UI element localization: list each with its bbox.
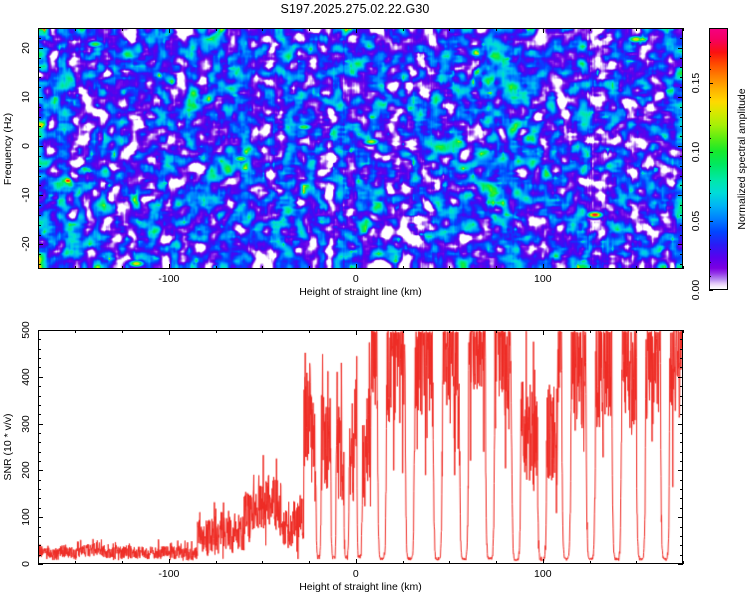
x-tick-minor [590,330,591,333]
x-tick-label: -100 [158,568,179,580]
y-tick-label: 100 [20,508,32,526]
y-tick-minor [38,205,41,206]
y-tick [678,48,683,49]
colorbar-tick-minor [709,111,711,112]
y-tick-minor [38,67,41,68]
y-tick [678,146,683,147]
y-tick-label: -10 [20,188,32,203]
spectrogram-image [39,29,682,268]
y-tick-minor [680,205,683,206]
y-tick-minor [680,225,683,226]
x-tick-minor [496,266,497,269]
y-tick-minor [680,185,683,186]
y-tick-label: 10 [20,91,32,103]
x-tick [169,28,170,33]
y-tick [38,424,43,425]
y-tick [678,564,683,565]
x-tick-minor [636,330,637,333]
y-tick [678,330,683,331]
x-tick-label: 100 [534,273,552,285]
y-tick-minor [680,349,683,350]
y-tick-minor [38,225,41,226]
x-tick-minor [496,28,497,31]
y-tick-minor [680,117,683,118]
colorbar-label: Normalized spectral amplitude [736,88,748,229]
x-tick-minor [403,330,404,333]
y-tick-minor [680,156,683,157]
y-tick [678,377,683,378]
colorbar-tick-minor [709,262,711,263]
y-tick-minor [680,489,683,490]
x-tick [356,330,357,335]
y-tick-minor [680,58,683,59]
y-tick-minor [38,405,41,406]
x-tick-minor [262,28,263,31]
y-tick-label: 0 [20,143,32,149]
y-tick-minor [680,498,683,499]
x-tick [169,330,170,335]
y-tick-label: 0 [20,561,32,567]
y-tick-minor [680,508,683,509]
y-tick-minor [38,461,41,462]
y-tick-minor [38,166,41,167]
y-tick-minor [38,508,41,509]
x-tick-minor [496,561,497,564]
y-tick-minor [38,126,41,127]
x-tick-minor [683,561,684,564]
colorbar-tick-minor [709,193,711,194]
y-tick [38,97,43,98]
colorbar-tick [709,83,713,84]
x-tick-minor [309,561,310,564]
y-tick-minor [680,555,683,556]
x-tick-label: -100 [158,273,179,285]
y-tick-minor [38,87,41,88]
y-tick-minor [38,176,41,177]
colorbar-tick [709,152,713,153]
x-tick-minor [309,330,310,333]
y-tick-minor [38,136,41,137]
x-tick-minor [636,561,637,564]
y-tick-minor [680,215,683,216]
y-tick-minor [38,117,41,118]
y-tick-minor [38,396,41,397]
x-tick-minor [75,266,76,269]
y-tick-minor [38,433,41,434]
y-tick-label: 500 [20,321,32,339]
y-axis-title: Frequency (Hz) [2,112,14,184]
y-tick [38,195,43,196]
x-tick [169,264,170,269]
y-tick-label: 300 [20,415,32,433]
x-tick-minor [403,266,404,269]
x-tick-minor [683,28,684,31]
x-tick-minor [262,330,263,333]
colorbar-tick-minor [709,276,711,277]
colorbar-tick-minor [709,207,711,208]
y-tick-minor [680,28,683,29]
y-tick-minor [680,452,683,453]
y-tick-minor [680,367,683,368]
y-tick [38,146,43,147]
y-tick-minor [680,107,683,108]
x-tick [169,559,170,564]
x-tick [543,28,544,33]
y-tick [38,48,43,49]
x-tick [543,330,544,335]
y-tick-minor [38,358,41,359]
y-tick-minor [38,339,41,340]
y-tick-label: 20 [20,42,32,54]
x-tick-minor [75,561,76,564]
colorbar-tick-minor [709,180,711,181]
y-tick-minor [38,235,41,236]
x-tick-minor [216,28,217,31]
y-tick [38,244,43,245]
y-tick [678,424,683,425]
y-tick-label: 400 [20,368,32,386]
colorbar-tick-label: 0.10 [690,142,702,162]
x-tick-minor [262,561,263,564]
y-tick-minor [680,254,683,255]
colorbar-tick-minor [709,42,711,43]
x-tick-minor [403,28,404,31]
colorbar-tick-minor [709,97,711,98]
y-tick-minor [38,58,41,59]
colorbar-tick-minor [709,56,711,57]
y-tick [678,470,683,471]
colorbar-tick-label: 0.05 [690,211,702,231]
x-tick-minor [683,330,684,333]
y-tick-minor [680,235,683,236]
x-tick-minor [122,28,123,31]
colorbar [709,28,728,290]
x-tick [543,559,544,564]
x-tick-minor [590,266,591,269]
y-tick-minor [38,442,41,443]
y-tick-minor [680,339,683,340]
x-tick-minor [122,266,123,269]
colorbar-tick-minor [709,138,711,139]
y-tick-minor [680,176,683,177]
x-tick-minor [122,561,123,564]
y-tick-minor [38,107,41,108]
colorbar-tick [709,221,713,222]
y-tick [678,517,683,518]
x-tick-minor [449,561,450,564]
y-tick [38,377,43,378]
x-tick-minor [309,266,310,269]
y-tick-minor [680,461,683,462]
colorbar-tick-minor [709,69,711,70]
colorbar-tick-minor [709,166,711,167]
y-tick-minor [38,489,41,490]
x-tick [356,28,357,33]
x-tick [356,264,357,269]
y-tick-minor [680,126,683,127]
y-tick-minor [680,480,683,481]
x-tick-minor [636,266,637,269]
x-tick-minor [496,330,497,333]
x-tick-minor [449,330,450,333]
x-tick-label: 0 [353,568,359,580]
y-tick-minor [680,414,683,415]
y-tick-minor [680,386,683,387]
x-tick-minor [75,28,76,31]
y-tick-minor [680,38,683,39]
y-tick-minor [38,215,41,216]
x-tick-minor [636,28,637,31]
x-tick-label: 0 [353,273,359,285]
y-tick-minor [680,442,683,443]
figure-root: S197.2025.275.02.22.G30 -1000100-20-1001… [0,0,750,600]
x-tick-minor [683,266,684,269]
snr-axes [38,330,683,564]
y-tick [38,517,43,518]
y-tick-minor [680,264,683,265]
x-tick-label: 100 [534,568,552,580]
y-tick [38,470,43,471]
y-tick-minor [680,67,683,68]
y-tick-minor [38,480,41,481]
x-tick-minor [75,330,76,333]
y-tick-minor [38,545,41,546]
y-tick-minor [38,28,41,29]
y-tick-minor [680,396,683,397]
y-tick-minor [680,358,683,359]
y-tick [38,330,43,331]
y-tick [678,195,683,196]
y-tick-minor [680,405,683,406]
y-tick-minor [680,166,683,167]
x-tick-minor [449,28,450,31]
x-axis-title: Height of straight line (km) [299,286,422,298]
x-tick-minor [403,561,404,564]
colorbar-gradient [710,29,727,289]
colorbar-tick [709,290,713,291]
y-tick-minor [38,452,41,453]
y-tick-minor [680,87,683,88]
y-tick-minor [38,527,41,528]
colorbar-tick-label: 0.15 [690,73,702,93]
y-tick [678,244,683,245]
y-tick-minor [38,498,41,499]
colorbar-tick-label: 0.00 [690,280,702,300]
y-tick [678,97,683,98]
x-tick-minor [262,266,263,269]
x-tick-minor [309,28,310,31]
x-axis-title: Height of straight line (km) [299,581,422,593]
colorbar-tick-minor [709,235,711,236]
x-tick-minor [216,561,217,564]
y-tick-minor [680,77,683,78]
y-tick-label: 200 [20,462,32,480]
y-tick-minor [680,536,683,537]
x-tick-minor [122,330,123,333]
x-tick-minor [216,266,217,269]
y-tick-minor [38,536,41,537]
y-tick-minor [38,77,41,78]
x-tick-minor [590,561,591,564]
y-tick-minor [680,545,683,546]
y-tick-minor [38,414,41,415]
y-axis-title: SNR (10 * v/v) [2,413,14,480]
spectrogram-axes [38,28,683,269]
y-tick-minor [38,349,41,350]
x-tick [543,264,544,269]
y-tick-minor [38,185,41,186]
y-tick-minor [38,555,41,556]
y-tick-minor [680,433,683,434]
colorbar-tick-minor [709,249,711,250]
y-tick [38,564,43,565]
x-tick-minor [449,266,450,269]
snr-trace [39,331,682,563]
y-tick-minor [38,38,41,39]
y-tick-minor [38,386,41,387]
y-tick-minor [38,254,41,255]
y-tick-minor [680,527,683,528]
x-tick [356,559,357,564]
y-tick-minor [38,156,41,157]
page-title: S197.2025.275.02.22.G30 [0,2,710,16]
colorbar-tick-minor [709,125,711,126]
y-tick-minor [38,367,41,368]
y-tick-label: -20 [20,237,32,252]
x-tick-minor [216,330,217,333]
y-tick-minor [38,264,41,265]
x-tick-minor [590,28,591,31]
y-tick-minor [680,136,683,137]
